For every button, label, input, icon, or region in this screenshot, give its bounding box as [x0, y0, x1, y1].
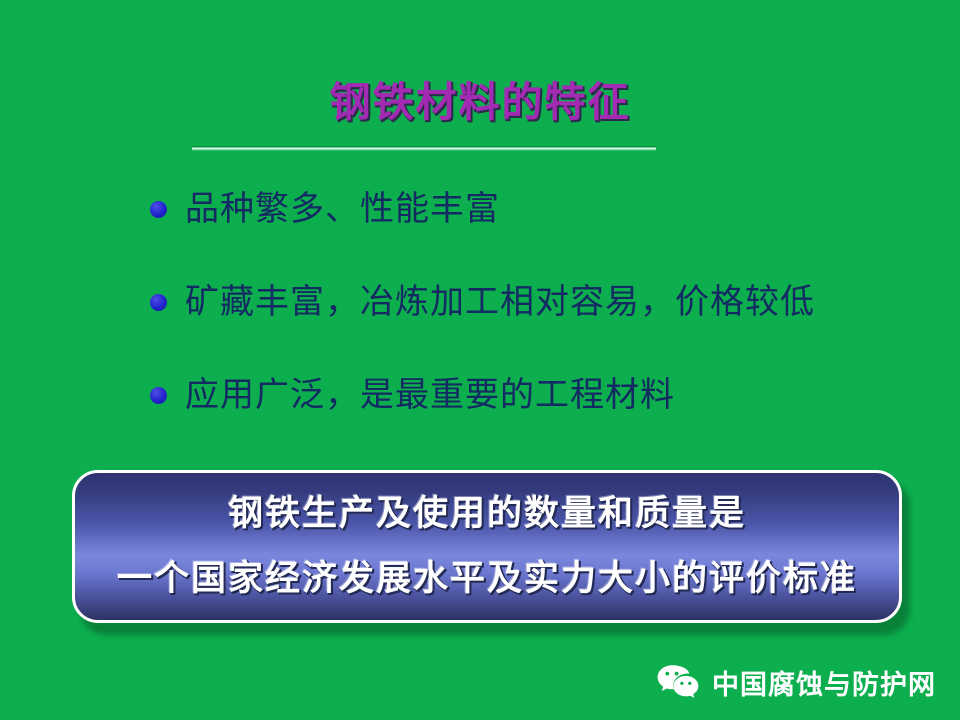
list-item-label: 品种繁多、性能丰富	[185, 188, 500, 232]
list-item: 应用广泛，是最重要的工程材料	[150, 374, 940, 420]
list-item-label: 应用广泛，是最重要的工程材料	[185, 374, 675, 418]
round-bullet-icon	[150, 387, 167, 404]
title-underline-rule	[192, 146, 656, 151]
footer-brand: 中国腐蚀与防护网	[656, 662, 936, 702]
wechat-icon	[656, 662, 700, 702]
callout-line-1: 钢铁生产及使用的数量和质量是	[228, 495, 746, 534]
callout-box: 钢铁生产及使用的数量和质量是 一个国家经济发展水平及实力大小的评价标准	[72, 470, 902, 623]
round-bullet-icon	[150, 201, 167, 218]
slide-canvas: 钢铁材料的特征 品种繁多、性能丰富 矿藏丰富，冶炼加工相对容易，价格较低 应用广…	[0, 0, 960, 720]
brand-name-label: 中国腐蚀与防护网	[712, 663, 936, 702]
list-item-label: 矿藏丰富，冶炼加工相对容易，价格较低	[185, 281, 815, 325]
callout-line-2: 一个国家经济发展水平及实力大小的评价标准	[117, 560, 857, 599]
title-block: 钢铁材料的特征	[0, 78, 960, 126]
round-bullet-icon	[150, 294, 167, 311]
page-title: 钢铁材料的特征	[330, 78, 631, 126]
list-item: 品种繁多、性能丰富	[150, 188, 940, 234]
list-item: 矿藏丰富，冶炼加工相对容易，价格较低	[150, 281, 940, 327]
bullet-list: 品种繁多、性能丰富 矿藏丰富，冶炼加工相对容易，价格较低 应用广泛，是最重要的工…	[150, 188, 940, 467]
